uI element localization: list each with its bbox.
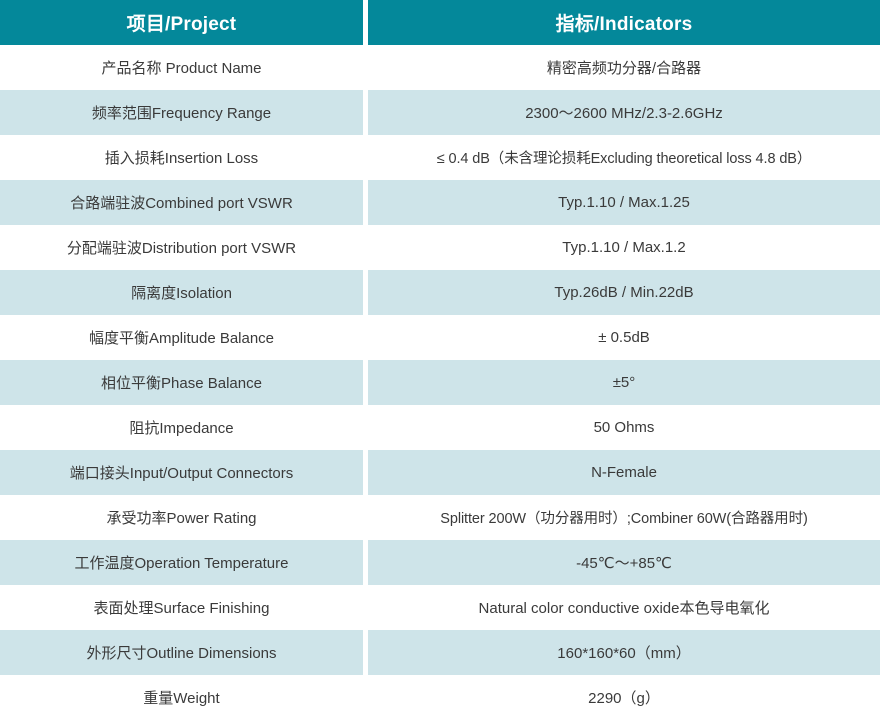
cell-indicator: ±5° [368,360,880,405]
cell-indicator: Natural color conductive oxide本色导电氧化 [368,585,880,630]
table-row: 相位平衡Phase Balance±5° [0,360,880,405]
cell-indicator: N-Female [368,450,880,495]
table-row: 隔离度IsolationTyp.26dB / Min.22dB [0,270,880,315]
table-body: 产品名称 Product Name精密高频功分器/合路器频率范围Frequenc… [0,45,880,720]
cell-project: 表面处理Surface Finishing [0,585,363,630]
cell-indicator: ± 0.5dB [368,315,880,360]
table-row: 外形尺寸Outline Dimensions160*160*60（mm） [0,630,880,675]
cell-project: 重量Weight [0,675,363,720]
cell-indicator: 2290（g） [368,675,880,720]
cell-project: 合路端驻波Combined port VSWR [0,180,363,225]
cell-indicator: 160*160*60（mm） [368,630,880,675]
header-row: 项目/Project 指标/Indicators [0,0,880,45]
cell-indicator: ≤ 0.4 dB（未含理论损耗Excluding theoretical los… [368,135,880,180]
table-row: 承受功率Power RatingSplitter 200W（功分器用时）;Com… [0,495,880,540]
cell-project: 产品名称 Product Name [0,45,363,90]
table-row: 插入损耗Insertion Loss≤ 0.4 dB（未含理论损耗Excludi… [0,135,880,180]
cell-project: 外形尺寸Outline Dimensions [0,630,363,675]
cell-project: 端口接头Input/Output Connectors [0,450,363,495]
cell-project: 相位平衡Phase Balance [0,360,363,405]
cell-indicator: Typ.1.10 / Max.1.25 [368,180,880,225]
table-row: 阻抗Impedance50 Ohms [0,405,880,450]
table-header: 项目/Project 指标/Indicators [0,0,880,45]
cell-project: 工作温度Operation Temperature [0,540,363,585]
cell-project: 幅度平衡Amplitude Balance [0,315,363,360]
cell-indicator: Typ.1.10 / Max.1.2 [368,225,880,270]
cell-project: 分配端驻波Distribution port VSWR [0,225,363,270]
table-row: 产品名称 Product Name精密高频功分器/合路器 [0,45,880,90]
table-row: 幅度平衡Amplitude Balance± 0.5dB [0,315,880,360]
cell-indicator: 50 Ohms [368,405,880,450]
table-row: 重量Weight2290（g） [0,675,880,720]
table-row: 工作温度Operation Temperature-45℃～+85℃ [0,540,880,585]
cell-indicator: Typ.26dB / Min.22dB [368,270,880,315]
table-row: 表面处理Surface FinishingNatural color condu… [0,585,880,630]
table-row: 分配端驻波Distribution port VSWRTyp.1.10 / Ma… [0,225,880,270]
specification-table: 项目/Project 指标/Indicators 产品名称 Product Na… [0,0,880,720]
cell-indicator: -45℃～+85℃ [368,540,880,585]
cell-indicator: Splitter 200W（功分器用时）;Combiner 60W(合路器用时) [368,495,880,540]
cell-project: 阻抗Impedance [0,405,363,450]
cell-project: 承受功率Power Rating [0,495,363,540]
cell-project: 隔离度Isolation [0,270,363,315]
cell-project: 频率范围Frequency Range [0,90,363,135]
cell-indicator: 精密高频功分器/合路器 [368,45,880,90]
cell-indicator: 2300～2600 MHz/2.3-2.6GHz [368,90,880,135]
table-row: 端口接头Input/Output ConnectorsN-Female [0,450,880,495]
column-header-indicators: 指标/Indicators [368,0,880,45]
table-row: 合路端驻波Combined port VSWRTyp.1.10 / Max.1.… [0,180,880,225]
cell-project: 插入损耗Insertion Loss [0,135,363,180]
column-header-project: 项目/Project [0,0,363,45]
table-row: 频率范围Frequency Range2300～2600 MHz/2.3-2.6… [0,90,880,135]
